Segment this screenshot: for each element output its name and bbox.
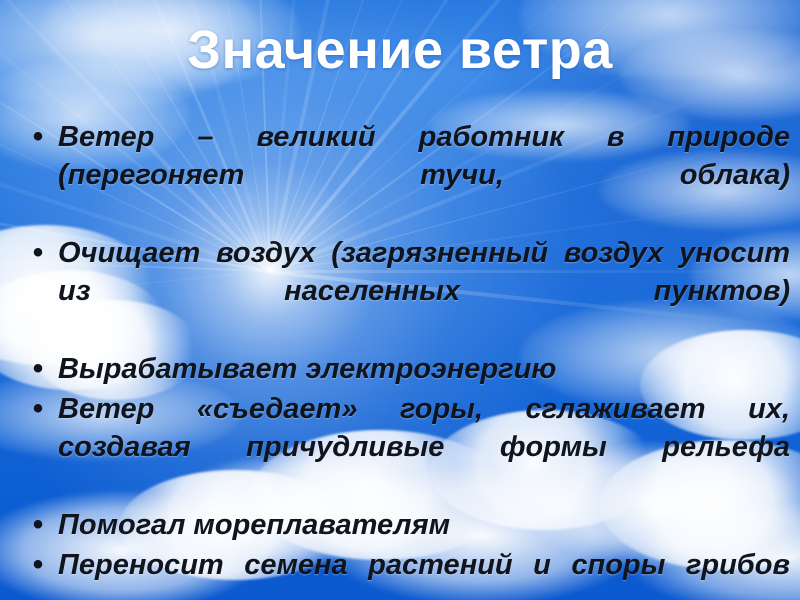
list-item: •Ветер – великий работник в природе (пер…	[18, 118, 790, 232]
list-item-text: Ветер «съедает» горы, сглаживает их, соз…	[58, 390, 790, 504]
page-title: Значение ветра	[0, 22, 800, 79]
bullet-list: •Ветер – великий работник в природе (пер…	[18, 118, 790, 600]
list-item: •Помогал мореплавателям	[18, 506, 790, 544]
list-item-text: Ветер – великий работник в природе (пере…	[58, 118, 790, 232]
bullet-dot-icon: •	[18, 350, 58, 388]
list-item-text: Вырабатывает электроэнергию	[58, 350, 790, 388]
bullet-dot-icon: •	[18, 118, 58, 156]
list-item: •Очищает воздух (загрязненный воздух уно…	[18, 234, 790, 348]
presentation-slide: Значение ветра •Ветер – великий работник…	[0, 0, 800, 600]
list-item: •Переносит семена растений и споры грибо…	[18, 546, 790, 600]
bullet-dot-icon: •	[18, 546, 58, 584]
list-item-text: Помогал мореплавателям	[58, 506, 790, 544]
list-item-text: Переносит семена растений и споры грибов	[58, 546, 790, 600]
bullet-dot-icon: •	[18, 390, 58, 428]
bullet-dot-icon: •	[18, 234, 58, 272]
list-item: •Ветер «съедает» горы, сглаживает их, со…	[18, 390, 790, 504]
list-item-text: Очищает воздух (загрязненный воздух унос…	[58, 234, 790, 348]
list-item: •Вырабатывает электроэнергию	[18, 350, 790, 388]
bullet-dot-icon: •	[18, 506, 58, 544]
